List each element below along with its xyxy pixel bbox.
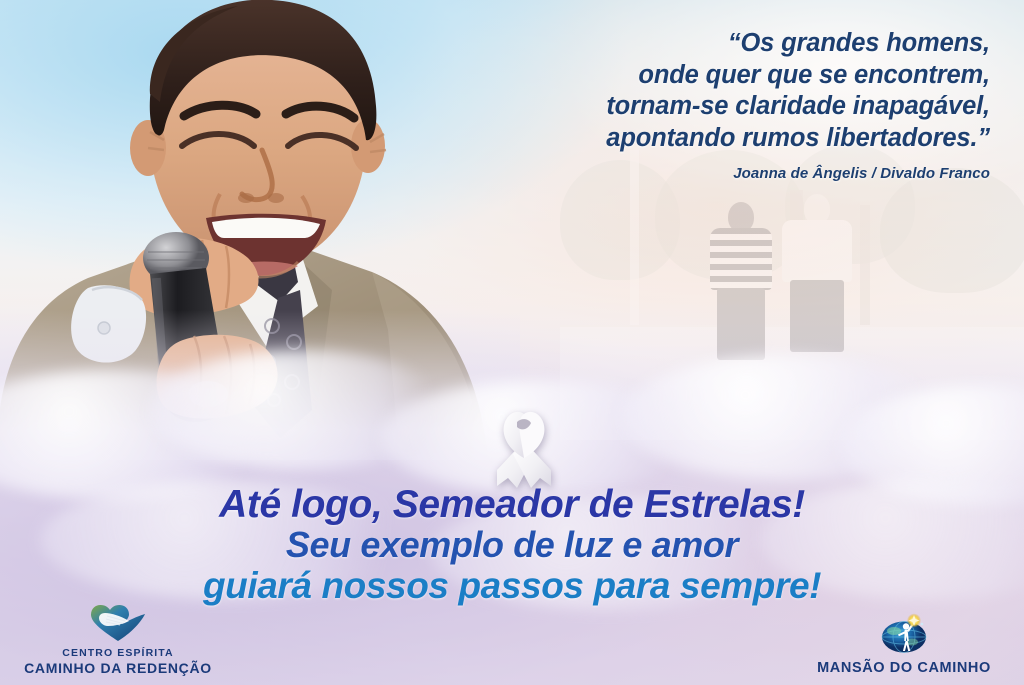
quote-author: Joanna de Ângelis / Divaldo Franco: [370, 165, 990, 183]
quote-line-1: “Os grandes homens,: [370, 28, 990, 60]
quote-line-2: onde quer que se encontrem,: [370, 60, 990, 92]
quote-line-3: tornam-se claridade inapagável,: [370, 91, 990, 123]
logo-left-line1: CENTRO ESPÍRITA: [24, 647, 212, 660]
logo-left-text: CENTRO ESPÍRITA CAMINHO DA REDENÇÃO: [24, 647, 212, 677]
background-person-white: [782, 194, 852, 362]
memorial-poster: “Os grandes homens, onde quer que se enc…: [0, 0, 1024, 685]
message-line-1: Até logo, Semeador de Estrelas!: [0, 484, 1024, 525]
heart-hands-icon: [89, 604, 147, 647]
message-line-3: guiará nossos passos para sempre!: [0, 565, 1024, 606]
background-scene: [560, 150, 1024, 440]
quote-block: “Os grandes homens, onde quer que se enc…: [370, 28, 990, 183]
quote-line-4: apontando rumos libertadores.”: [370, 123, 990, 155]
globe-figure-star-icon: [878, 613, 930, 660]
white-ribbon-icon: [483, 408, 565, 492]
logo-left-line2: CAMINHO DA REDENÇÃO: [24, 660, 212, 677]
logo-mansao-do-caminho: MANSÃO DO CAMINHO: [798, 613, 1010, 677]
message-line-2: Seu exemplo de luz e amor: [0, 525, 1024, 565]
logo-right-line2: MANSÃO DO CAMINHO: [817, 660, 991, 677]
main-message: Até logo, Semeador de Estrelas! Seu exem…: [0, 484, 1024, 606]
logo-right-text: MANSÃO DO CAMINHO: [817, 660, 991, 677]
logo-centro-espirita: CENTRO ESPÍRITA CAMINHO DA REDENÇÃO: [18, 604, 218, 677]
background-person-striped: [710, 202, 772, 362]
